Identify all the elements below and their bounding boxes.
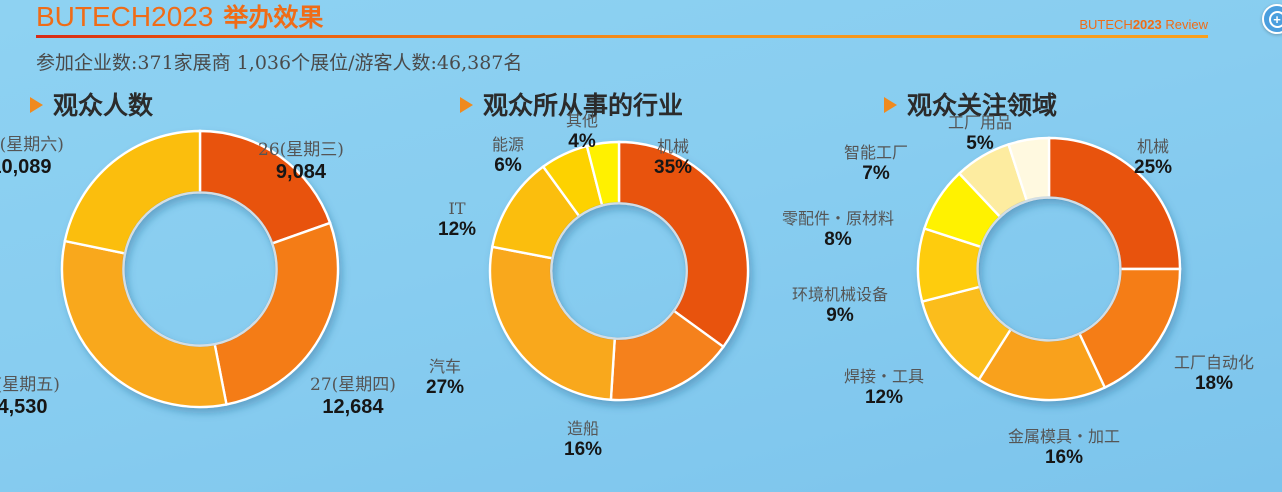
page-title-year: 2023 [151,1,213,32]
panel-title-visitor-count: 观众人数 [30,86,153,122]
review-label-brand: BUTECH [1079,17,1132,32]
page-title: BUTECH2023举办效果 [36,0,323,34]
slice-label-name: 环境机械设备 [792,286,888,304]
slice-label-2: 金属模具・加工 16% [1008,428,1120,468]
slice-label-4: 能源 6% [492,136,524,176]
slice-label-name: 29(星期六) [0,136,64,155]
slice-label-1: 工厂自动化 18% [1174,354,1254,394]
donut-inner-edge [123,192,276,345]
slice-label-name: 机械 [654,138,692,156]
page-title-brand: BUTECH [36,1,151,32]
slice-label-0: 机械 25% [1134,138,1172,178]
slice-label-7: 工厂用品 5% [948,114,1012,154]
slice-label-value: 9% [792,305,888,326]
slice-label-value: 6% [492,155,524,176]
page-title-cn: 举办效果 [223,3,323,32]
donut-slice [62,241,226,407]
review-label-year: 2023 [1133,17,1162,32]
slice-label-name: 工厂自动化 [1174,354,1254,372]
slice-label-value: 8% [782,229,894,250]
slice-label-value: 16% [1008,447,1120,468]
slice-label-name: 汽车 [426,358,464,376]
slice-label-name: 工厂用品 [948,114,1012,132]
slice-label-4: 环境机械设备 9% [792,286,888,326]
donut-inner-edge [551,203,686,338]
slice-label-value: 10,089 [0,156,64,178]
title-divider [36,35,1208,38]
slice-label-6: 智能工厂 7% [844,144,908,184]
slice-label-value: 9,084 [258,161,344,183]
slice-label-name: 能源 [492,136,524,154]
panel-visitor-interest: 观众关注领域 机械 25% 工厂自动化 18% 金属模具・加工 16% 焊接・工… [856,86,1282,492]
slice-label-value: 12% [438,219,476,240]
page-header: BUTECH2023举办效果 BUTECH2023 Review + 参加企业数… [0,0,1282,44]
magnify-plus-icon[interactable]: + [1262,4,1282,34]
slice-label-value: 25% [1134,157,1172,178]
donut-inner-edge [978,198,1121,341]
slice-label-1: 27(星期四) 12,684 [310,376,396,418]
slice-label-1: 造船 16% [564,420,602,460]
slice-label-name: 金属模具・加工 [1008,428,1120,446]
slice-label-3: 29(星期六) 10,089 [0,136,64,178]
triangle-right-icon [30,97,43,113]
slice-label-name: 机械 [1134,138,1172,156]
slice-label-value: 7% [844,163,908,184]
slice-label-5: 其他 4% [566,112,598,152]
stats-summary: 参加企业数:371家展商 1,036个展位/游客人数:46,387名 [36,48,522,75]
slice-label-3: 焊接・工具 12% [844,368,924,408]
review-label: BUTECH2023 Review [1079,17,1208,32]
panel-title-label: 观众人数 [53,86,153,122]
slice-label-value: 12,684 [310,396,396,418]
slice-label-value: 12% [844,387,924,408]
slice-label-2: 28(星期五) 14,530 [0,376,60,418]
magnify-plus-glyph: + [1269,11,1282,28]
slice-label-name: 零配件・原材料 [782,210,894,228]
slice-label-name: 26(星期三) [258,141,344,160]
slice-label-name: 智能工厂 [844,144,908,162]
slice-label-name: 28(星期五) [0,376,60,395]
slice-label-value: 18% [1174,373,1254,394]
slice-label-2: 汽车 27% [426,358,464,398]
donut-chart-visitor-industry [490,142,748,400]
slice-label-name: 其他 [566,112,598,130]
triangle-right-icon [884,97,897,113]
slice-label-name: 焊接・工具 [844,368,924,386]
slice-label-value: 35% [654,157,692,178]
review-label-word: Review [1165,17,1208,32]
slice-label-name: IT [438,200,476,218]
slice-label-value: 4% [566,131,598,152]
slice-label-name: 造船 [564,420,602,438]
slice-label-0: 26(星期三) 9,084 [258,141,344,183]
triangle-right-icon [460,97,473,113]
slice-label-3: IT 12% [438,200,476,240]
slice-label-5: 零配件・原材料 8% [782,210,894,250]
slice-label-name: 27(星期四) [310,376,396,395]
slice-label-value: 5% [948,133,1012,154]
slice-label-value: 14,530 [0,396,60,418]
slice-label-0: 机械 35% [654,138,692,178]
slice-label-value: 16% [564,439,602,460]
panel-visitor-count: 观众人数 26(星期三) 9,084 27(星期四) 12,684 28(星期五… [0,86,434,492]
slice-label-value: 27% [426,377,464,398]
